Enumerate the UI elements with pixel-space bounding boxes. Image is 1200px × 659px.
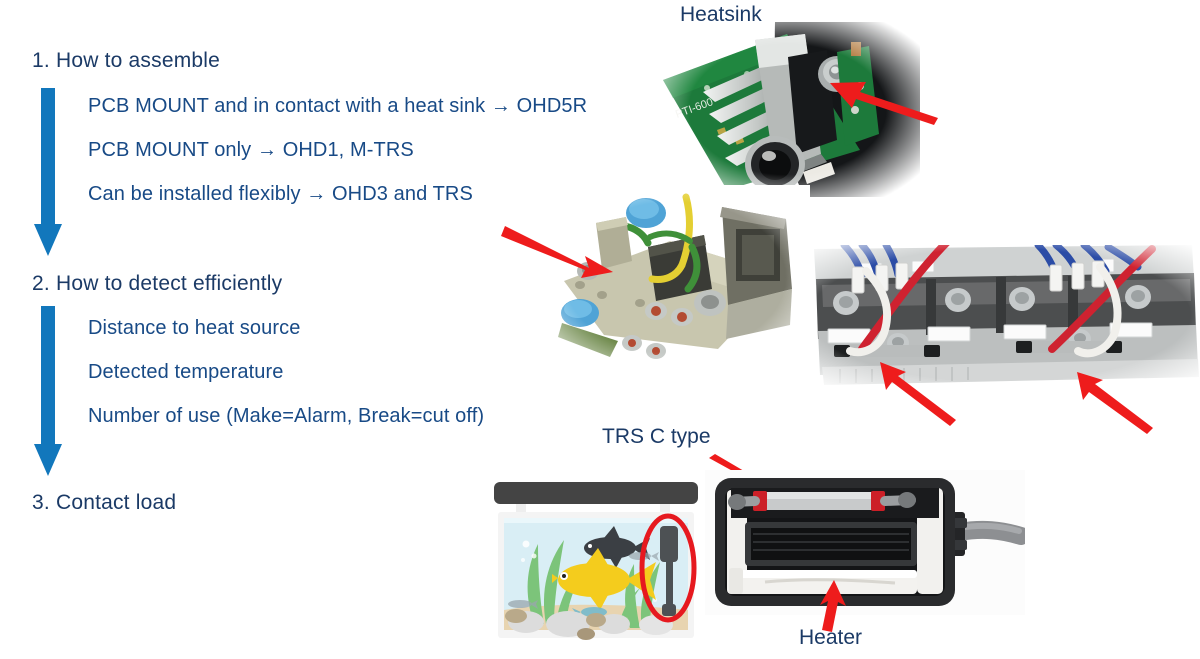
- bullet-1-2: PCB MOUNT only → OHD1, M-TRS: [88, 139, 414, 162]
- bullet-2-2: Detected temperature: [88, 361, 283, 384]
- label-trs-c-type: TRS C type: [602, 425, 711, 449]
- red-arrow-busbar-right: [1075, 372, 1155, 430]
- slide-canvas: 1. How to assemble PCB MOUNT and in cont…: [0, 0, 1200, 659]
- red-arrow-busbar-left: [880, 362, 960, 422]
- red-arrow-heater: [810, 580, 860, 632]
- red-arrow-transformer: [505, 222, 615, 282]
- bullet-2-1: Distance to heat source: [88, 317, 300, 340]
- bullet-1-1: PCB MOUNT and in contact with a heat sin…: [88, 95, 587, 118]
- terminal-busbar-panel-photo: [800, 245, 1200, 385]
- aquarium-illustration: [490, 482, 702, 645]
- red-arrow-heatsink: [830, 78, 940, 123]
- section-heading-2: 2. How to detect efficiently: [32, 272, 282, 296]
- blue-down-arrow-2: [34, 306, 62, 478]
- section-heading-3: 3. Contact load: [32, 491, 176, 515]
- label-heater: Heater: [799, 626, 862, 650]
- bullet-1-3: Can be installed flexibly → OHD3 and TRS: [88, 183, 473, 206]
- section-heading-1: 1. How to assemble: [32, 49, 220, 73]
- bullet-2-3: Number of use (Make=Alarm, Break=cut off…: [88, 405, 484, 428]
- heater-internals-photo: [705, 470, 1025, 615]
- blue-down-arrow-1: [34, 88, 62, 258]
